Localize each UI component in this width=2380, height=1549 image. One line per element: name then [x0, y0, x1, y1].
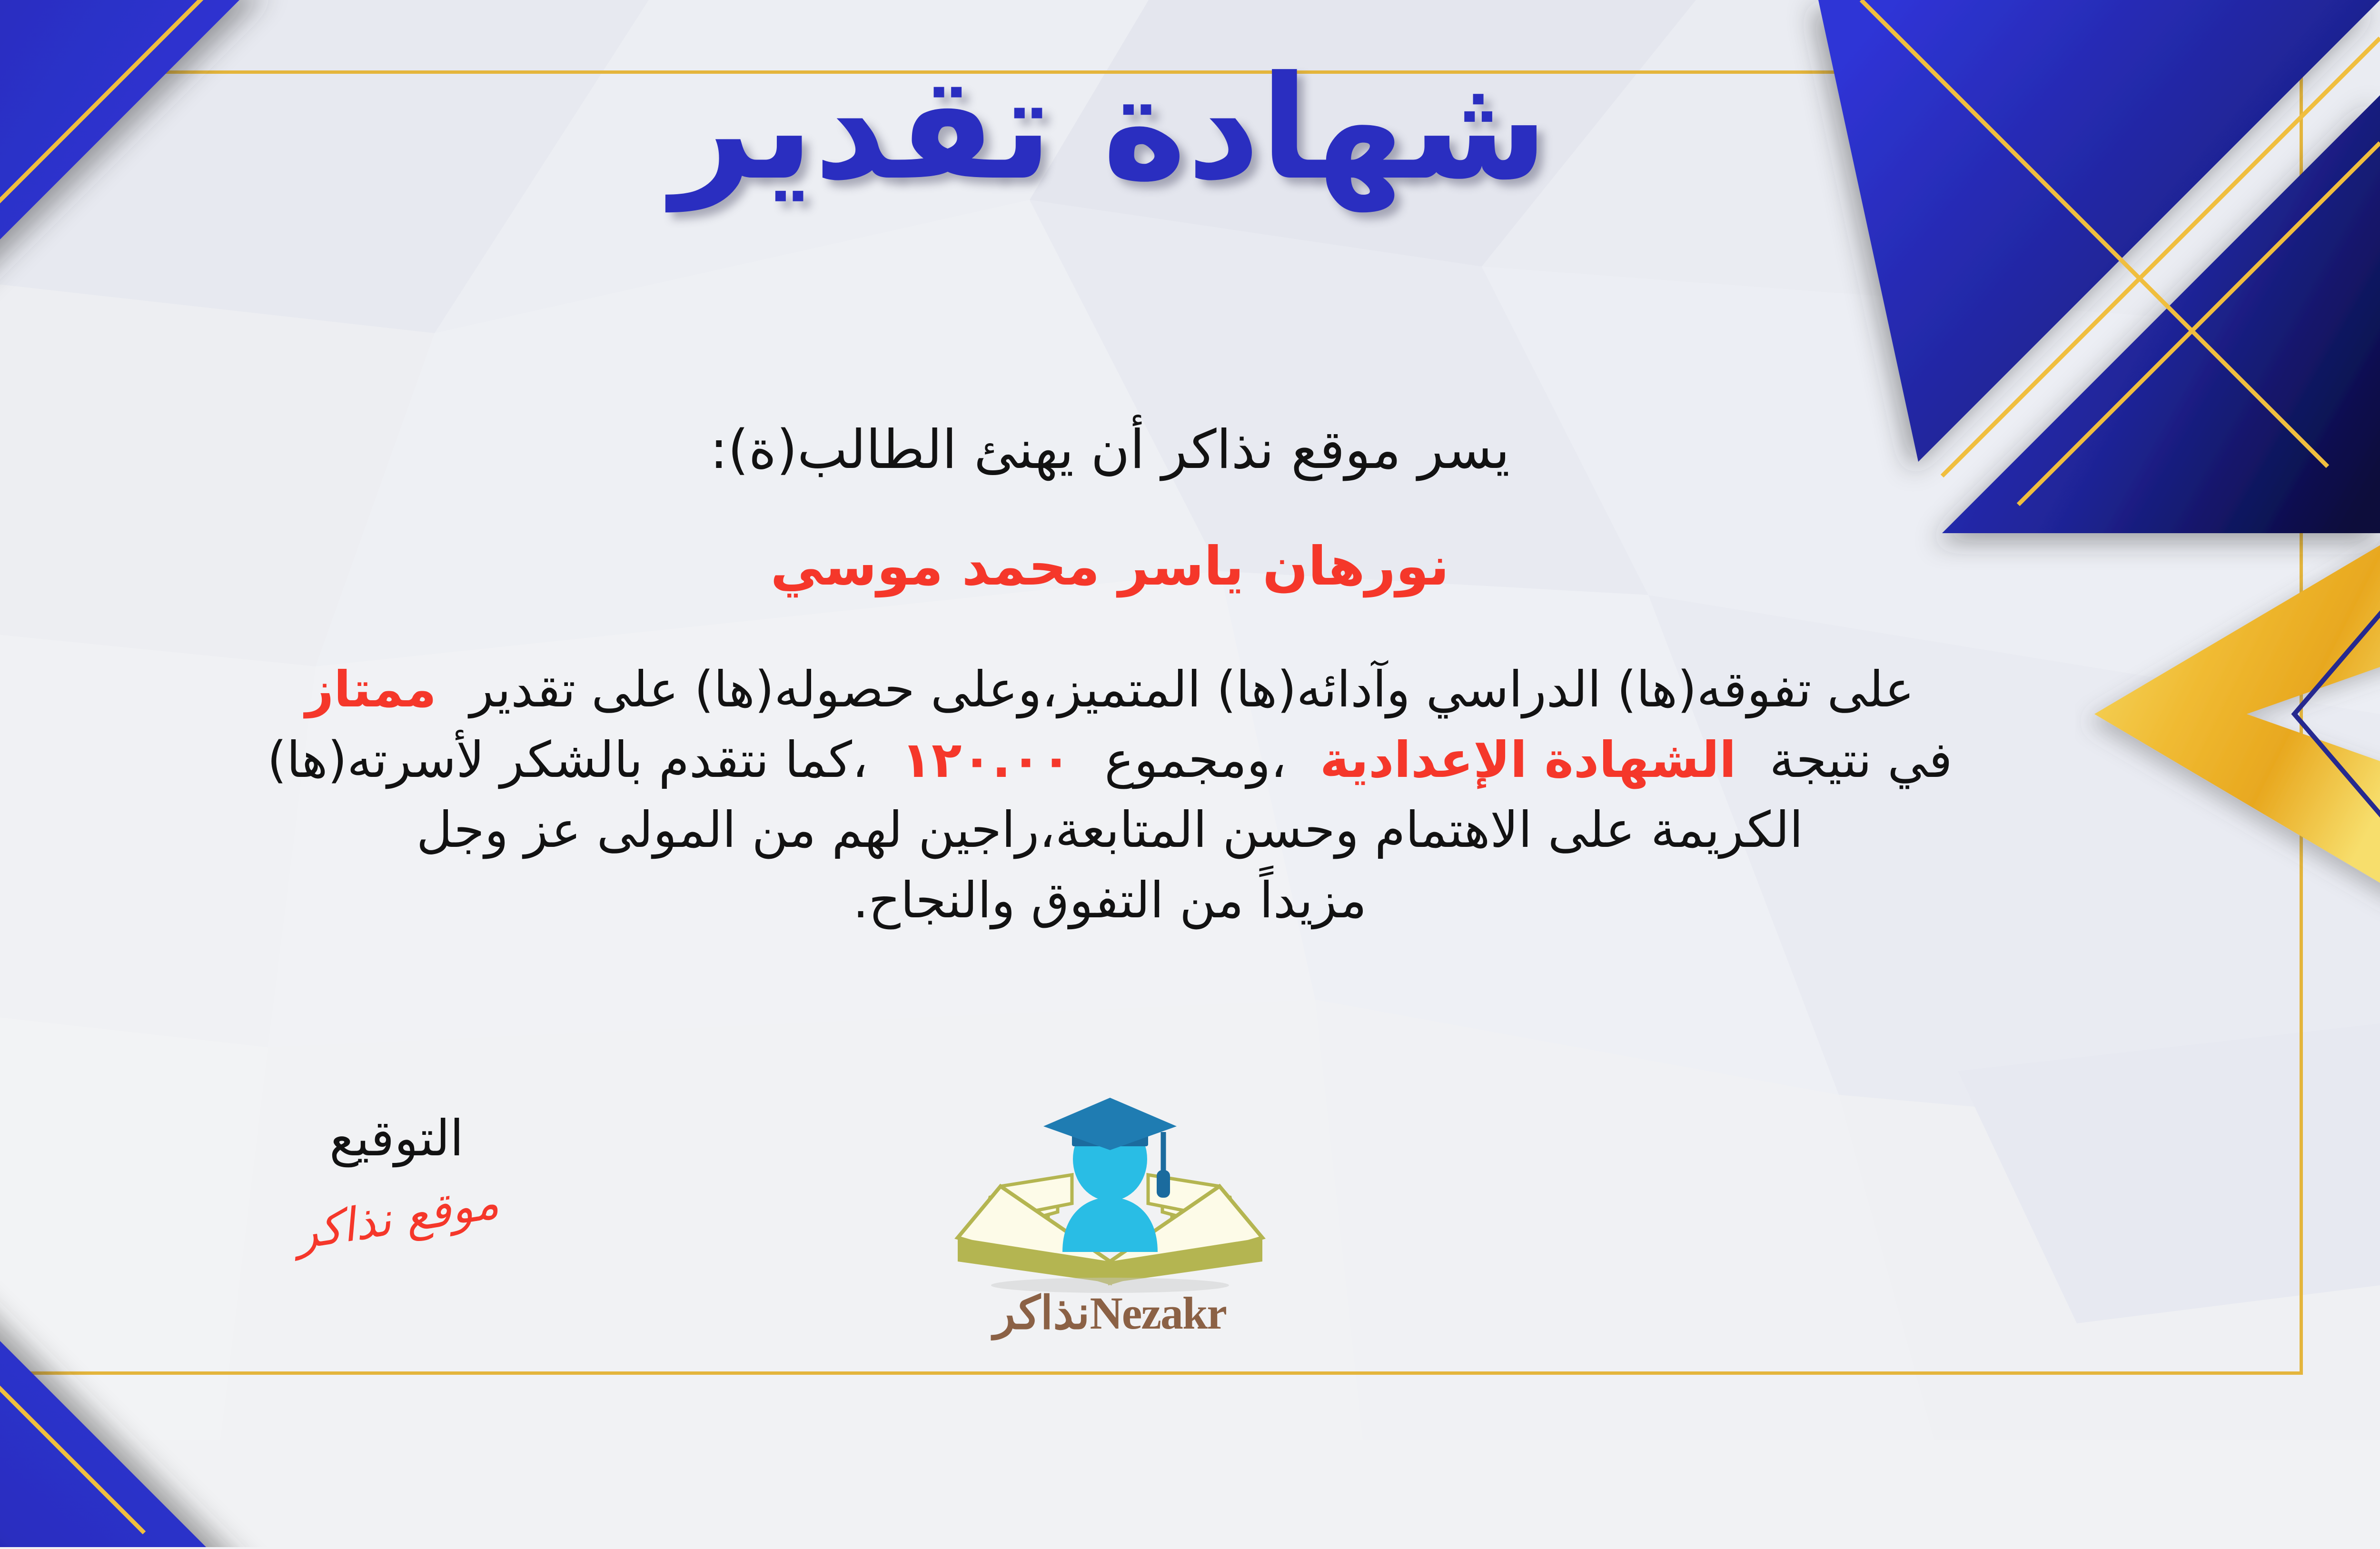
intro-line: يسر موقع نذاكر أن يهنئ الطالب(ة):	[0, 419, 2380, 481]
student-name: نورهان ياسر محمد موسي	[0, 536, 2380, 597]
body-segment-5: الكريمة على الاهتمام وحسن المتابعة،راجين…	[416, 801, 1803, 859]
logo-wordmark: Nezakrنذاكر	[929, 1286, 1291, 1340]
body-segment-2: في نتيجة	[1770, 731, 1953, 789]
brand-logo: Nezakrنذاكر	[929, 1095, 1291, 1340]
body-segment-3: ،ومجموع	[1104, 731, 1287, 789]
signature-block: التوقيع موقع نذاكر	[230, 1109, 563, 1244]
exam-name-value: الشهادة الإعدادية	[1320, 731, 1736, 789]
body-segment-6: مزيداً من التفوق والنجاح.	[853, 871, 1367, 929]
signature-label: التوقيع	[230, 1109, 563, 1167]
total-score-value: ١٢٠.٠٠	[902, 731, 1071, 789]
signature-mark: موقع نذاكر	[291, 1175, 502, 1260]
grade-value: ممتاز	[305, 660, 436, 718]
body-paragraph: على تفوقه(ها) الدراسي وآدائه(ها) المتميز…	[0, 655, 2247, 936]
certificate-content: شهادة تقدير يسر موقع نذاكر أن يهنئ الطال…	[0, 0, 2380, 1440]
graduate-book-icon	[929, 1095, 1291, 1295]
page-title: شهادة تقدير	[0, 57, 2380, 200]
body-segment-4: ،كما نتقدم بالشكر لأسرته(ها)	[267, 731, 868, 789]
body-segment-1: على تفوقه(ها) الدراسي وآدائه(ها) المتميز…	[470, 660, 1914, 718]
